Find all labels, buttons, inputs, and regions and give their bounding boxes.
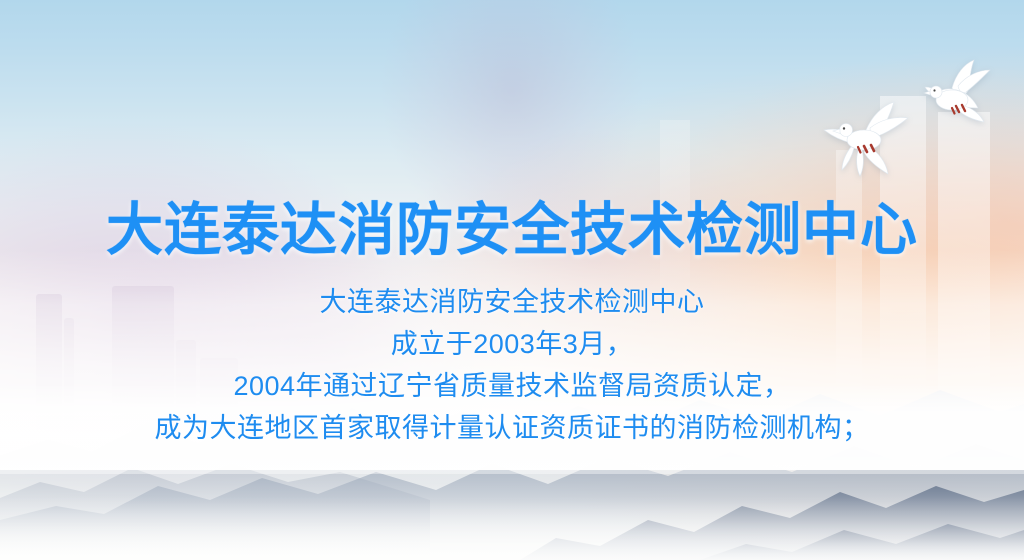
dove-icon [818, 96, 918, 178]
hero-banner: 大连泰达消防安全技术检测中心 大连泰达消防安全技术检测中心 成立于2003年3月… [0, 0, 1024, 560]
dove-icon [912, 58, 998, 132]
page-title: 大连泰达消防安全技术检测中心 [0, 202, 1024, 259]
intro-paragraph: 大连泰达消防安全技术检测中心 成立于2003年3月， 2004年通过辽宁省质量技… [0, 281, 1024, 449]
intro-line: 大连泰达消防安全技术检测中心 [0, 281, 1024, 323]
intro-line: 2004年通过辽宁省质量技术监督局资质认定， [0, 365, 1024, 407]
intro-line: 成为大连地区首家取得计量认证资质证书的消防检测机构； [0, 407, 1024, 449]
intro-line: 成立于2003年3月， [0, 323, 1024, 365]
